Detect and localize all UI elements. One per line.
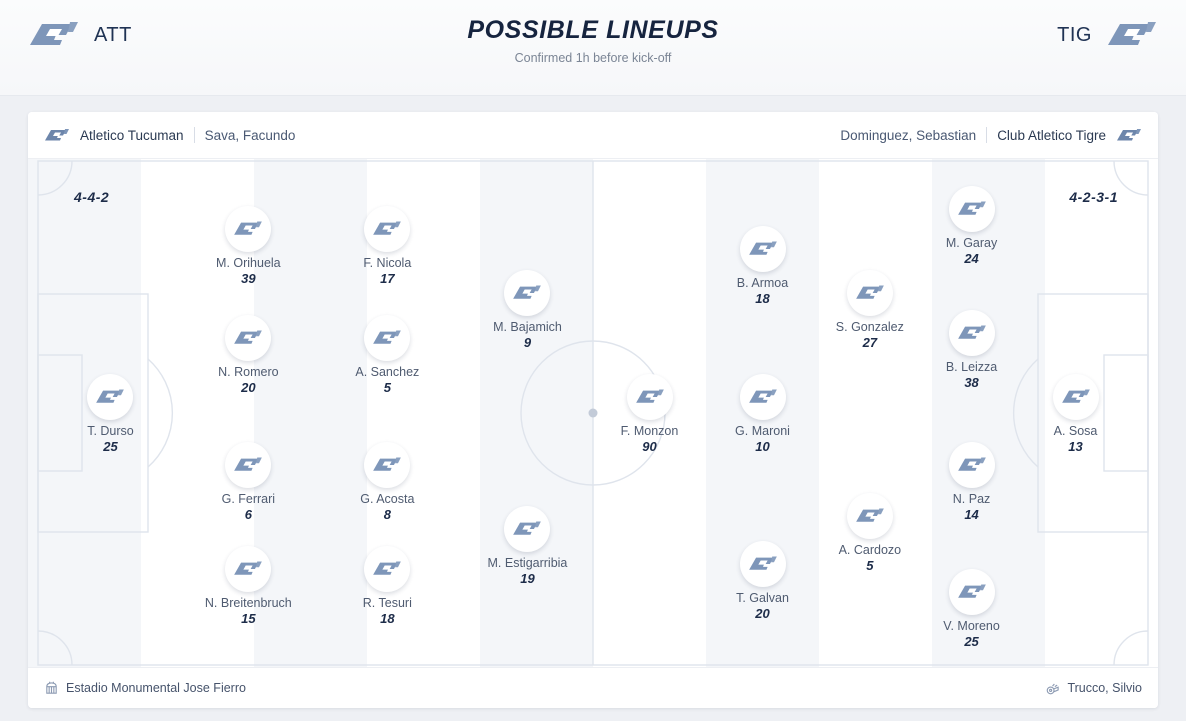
club-crest-icon [504, 506, 550, 552]
away-team-code: TIG [1057, 24, 1092, 47]
club-crest-icon [949, 442, 995, 488]
club-crest-icon [87, 374, 133, 420]
pitch: 4-4-2 4-2-3-1 T. Durso25M. Orihuela39N. … [28, 159, 1158, 667]
away-team-info: Dominguez, Sebastian Club Atletico Tigre [840, 127, 1142, 143]
player-name: N. Breitenbruch [193, 596, 303, 610]
player-name: T. Durso [55, 424, 165, 438]
player-token[interactable]: F. Nicola17 [332, 206, 442, 286]
stadium-icon [44, 681, 59, 696]
team-coach-bar: Atletico Tucuman Sava, Facundo Dominguez… [28, 112, 1158, 159]
lineups-page: ATT POSSIBLE LINEUPS Confirmed 1h before… [0, 0, 1186, 721]
club-crest-icon [364, 315, 410, 361]
club-crest-icon [740, 374, 786, 420]
club-crest-icon [847, 270, 893, 316]
player-name: B. Leizza [917, 360, 1027, 374]
player-name: A. Cardozo [815, 543, 925, 557]
player-token[interactable]: N. Romero20 [193, 315, 303, 395]
whistle-icon [1045, 681, 1060, 696]
player-number: 18 [708, 291, 818, 306]
club-crest-icon [364, 442, 410, 488]
player-name: F. Nicola [332, 256, 442, 270]
player-number: 6 [193, 507, 303, 522]
match-footer: Estadio Monumental Jose Fierro Trucco, S… [28, 667, 1158, 708]
player-name: T. Galvan [708, 591, 818, 605]
player-number: 17 [332, 271, 442, 286]
player-token[interactable]: M. Bajamich9 [472, 270, 582, 350]
player-name: M. Estigarribia [472, 556, 582, 570]
player-name: F. Monzon [595, 424, 705, 438]
home-coach-name[interactable]: Sava, Facundo [205, 128, 296, 143]
player-name: B. Armoa [708, 276, 818, 290]
player-number: 24 [917, 251, 1027, 266]
player-name: R. Tesuri [332, 596, 442, 610]
player-number: 19 [472, 571, 582, 586]
player-name: G. Acosta [332, 492, 442, 506]
club-crest-icon [364, 206, 410, 252]
player-name: A. Sanchez [332, 365, 442, 379]
player-number: 9 [472, 335, 582, 350]
player-token[interactable]: T. Galvan20 [708, 541, 818, 621]
player-name: N. Romero [193, 365, 303, 379]
club-crest-icon [44, 128, 70, 143]
lineups-card: Atletico Tucuman Sava, Facundo Dominguez… [28, 112, 1158, 708]
player-number: 5 [332, 380, 442, 395]
player-token[interactable]: A. Sosa13 [1021, 374, 1131, 454]
player-number: 5 [815, 558, 925, 573]
player-name: G. Maroni [708, 424, 818, 438]
player-token[interactable]: F. Monzon90 [595, 374, 705, 454]
club-crest-icon [1106, 20, 1158, 50]
club-crest-icon [225, 206, 271, 252]
referee-name: Trucco, Silvio [1067, 681, 1142, 695]
away-team-name[interactable]: Club Atletico Tigre [997, 128, 1106, 143]
club-crest-icon [225, 442, 271, 488]
club-crest-icon [949, 569, 995, 615]
club-crest-icon [847, 493, 893, 539]
page-subtitle: Confirmed 1h before kick-off [0, 51, 1186, 65]
player-name: G. Ferrari [193, 492, 303, 506]
player-name: M. Garay [917, 236, 1027, 250]
home-formation: 4-4-2 [74, 189, 109, 205]
player-number: 20 [708, 606, 818, 621]
player-number: 25 [917, 634, 1027, 649]
club-crest-icon [1116, 128, 1142, 143]
club-crest-icon [504, 270, 550, 316]
club-crest-icon [740, 541, 786, 587]
club-crest-icon [949, 186, 995, 232]
club-crest-icon [364, 546, 410, 592]
player-name: M. Orihuela [193, 256, 303, 270]
player-number: 18 [332, 611, 442, 626]
player-token[interactable]: G. Ferrari6 [193, 442, 303, 522]
player-token[interactable]: M. Garay24 [917, 186, 1027, 266]
home-team-info: Atletico Tucuman Sava, Facundo [44, 127, 295, 143]
player-number: 20 [193, 380, 303, 395]
player-number: 38 [917, 375, 1027, 390]
club-crest-icon [225, 315, 271, 361]
referee-info: Trucco, Silvio [1045, 681, 1142, 696]
club-crest-icon [740, 226, 786, 272]
away-team-header: TIG [1057, 20, 1158, 50]
divider [194, 127, 195, 143]
player-name: A. Sosa [1021, 424, 1131, 438]
player-token[interactable]: V. Moreno25 [917, 569, 1027, 649]
home-team-name[interactable]: Atletico Tucuman [80, 128, 184, 143]
player-name: S. Gonzalez [815, 320, 925, 334]
stadium-name: Estadio Monumental Jose Fierro [66, 681, 246, 695]
player-name: V. Moreno [917, 619, 1027, 633]
away-formation: 4-2-3-1 [1069, 189, 1118, 205]
player-number: 25 [55, 439, 165, 454]
player-token[interactable]: R. Tesuri18 [332, 546, 442, 626]
page-header: ATT POSSIBLE LINEUPS Confirmed 1h before… [0, 0, 1186, 96]
player-number: 14 [917, 507, 1027, 522]
player-number: 10 [708, 439, 818, 454]
club-crest-icon [627, 374, 673, 420]
page-title-block: POSSIBLE LINEUPS Confirmed 1h before kic… [0, 16, 1186, 65]
player-number: 39 [193, 271, 303, 286]
club-crest-icon [1053, 374, 1099, 420]
player-token[interactable]: N. Paz14 [917, 442, 1027, 522]
player-token[interactable]: N. Breitenbruch15 [193, 546, 303, 626]
player-number: 27 [815, 335, 925, 350]
player-name: N. Paz [917, 492, 1027, 506]
player-token[interactable]: M. Orihuela39 [193, 206, 303, 286]
player-token[interactable]: S. Gonzalez27 [815, 270, 925, 350]
player-token[interactable]: A. Sanchez5 [332, 315, 442, 395]
player-name: M. Bajamich [472, 320, 582, 334]
player-number: 15 [193, 611, 303, 626]
player-token[interactable]: B. Armoa18 [708, 226, 818, 306]
away-coach-name[interactable]: Dominguez, Sebastian [840, 128, 976, 143]
player-token[interactable]: G. Maroni10 [708, 374, 818, 454]
player-number: 8 [332, 507, 442, 522]
player-token[interactable]: B. Leizza38 [917, 310, 1027, 390]
stadium-info: Estadio Monumental Jose Fierro [44, 681, 246, 696]
page-title: POSSIBLE LINEUPS [0, 16, 1186, 45]
player-number: 13 [1021, 439, 1131, 454]
player-token[interactable]: T. Durso25 [55, 374, 165, 454]
player-number: 90 [595, 439, 705, 454]
club-crest-icon [225, 546, 271, 592]
player-token[interactable]: A. Cardozo5 [815, 493, 925, 573]
divider [986, 127, 987, 143]
player-token[interactable]: G. Acosta8 [332, 442, 442, 522]
player-token[interactable]: M. Estigarribia19 [472, 506, 582, 586]
club-crest-icon [949, 310, 995, 356]
